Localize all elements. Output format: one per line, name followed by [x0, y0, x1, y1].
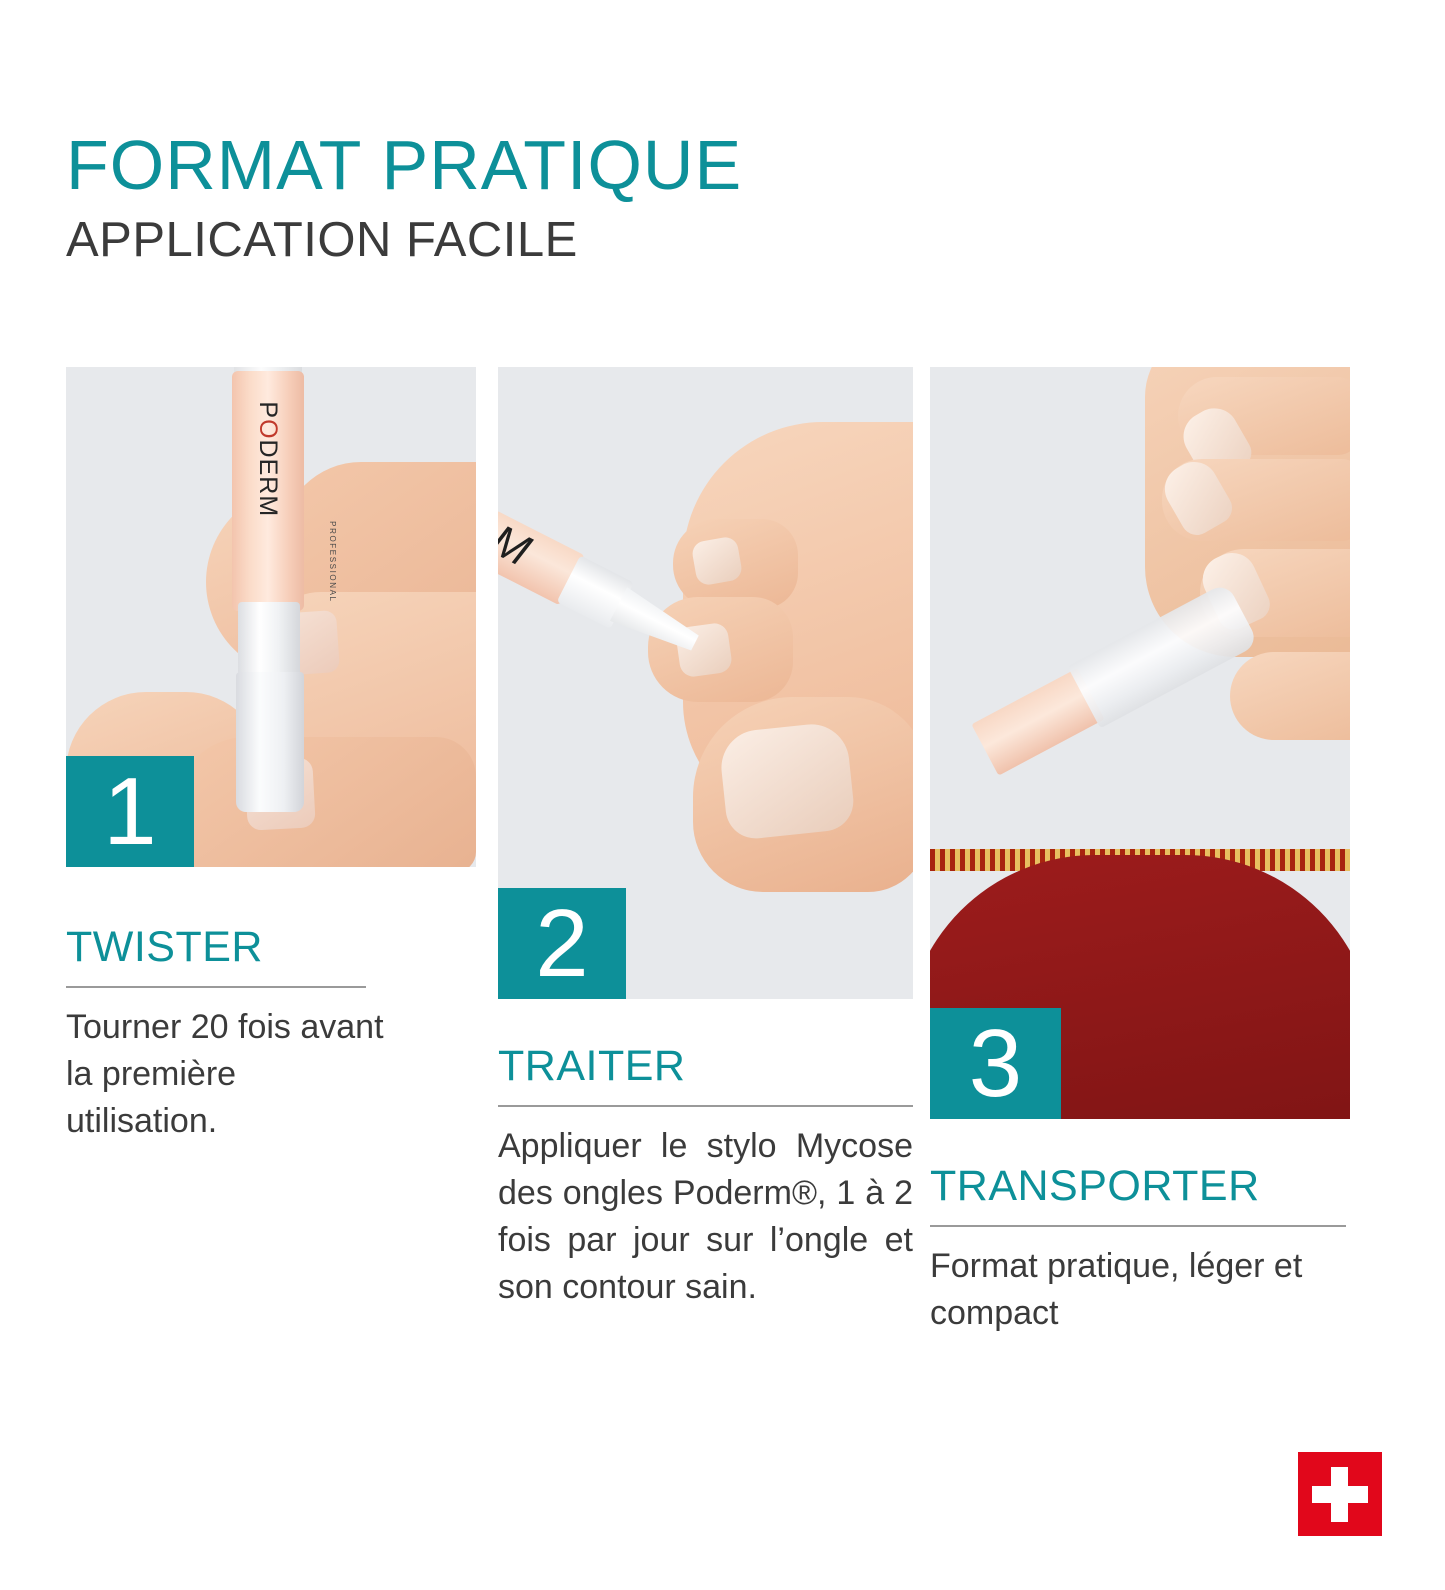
- brand-letter-p: P: [255, 401, 283, 419]
- finger-shape-4: [1230, 652, 1350, 740]
- header: FORMAT PRATIQUE APPLICATION FACILE: [66, 128, 742, 268]
- step-title-3: TRANSPORTER: [930, 1161, 1350, 1211]
- step-body-1: Tourner 20 fois avant la première utilis…: [66, 1004, 396, 1145]
- pen-middle-section: [238, 602, 300, 677]
- big-toenail-shape: [718, 721, 857, 842]
- brand-logo-o: O: [255, 419, 283, 439]
- step-1-photo-twister: PODERM PROFESSIONAL 1: [66, 367, 476, 867]
- page-subtitle: APPLICATION FACILE: [66, 212, 742, 268]
- step-title-1: TWISTER: [66, 922, 476, 972]
- step-2-photo-traiter: M 2: [498, 367, 913, 999]
- step-card-3: 3 TRANSPORTER Format pratique, léger et …: [930, 367, 1350, 1337]
- step-body-3: Format pratique, léger et compact: [930, 1243, 1350, 1337]
- swiss-flag-icon: [1298, 1452, 1382, 1536]
- finger-lower-shape-2: [176, 737, 476, 867]
- toenail-shape-3: [691, 535, 744, 586]
- step-card-1: PODERM PROFESSIONAL 1 TWISTER Tourner 20…: [66, 367, 476, 1145]
- pen-lower-barrel: [236, 672, 304, 812]
- brand-letters-derm: DERM: [255, 440, 283, 518]
- pen-in-pouch: [969, 583, 1258, 781]
- step-divider-1: [66, 986, 366, 988]
- swiss-cross-vertical-bar: [1331, 1467, 1348, 1522]
- step-title-2: TRAITER: [498, 1041, 913, 1091]
- brand-tagline: PROFESSIONAL: [328, 521, 337, 602]
- step-3-photo-transporter: 3: [930, 367, 1350, 1119]
- brand-wordmark: PODERM: [254, 401, 283, 517]
- step-divider-2: [498, 1105, 913, 1107]
- step-body-2: Appliquer le stylo Mycose des ongles Pod…: [498, 1123, 913, 1311]
- step-card-2: M 2 TRAITER Appliquer le stylo Mycose de…: [498, 367, 913, 1311]
- step-divider-3: [930, 1225, 1346, 1227]
- step-number-badge-1: 1: [66, 756, 194, 867]
- step-number-badge-2: 2: [498, 888, 626, 999]
- step-number-badge-3: 3: [930, 1008, 1061, 1119]
- page-title: FORMAT PRATIQUE: [66, 128, 742, 202]
- product-label: PODERM PROFESSIONAL: [193, 476, 343, 528]
